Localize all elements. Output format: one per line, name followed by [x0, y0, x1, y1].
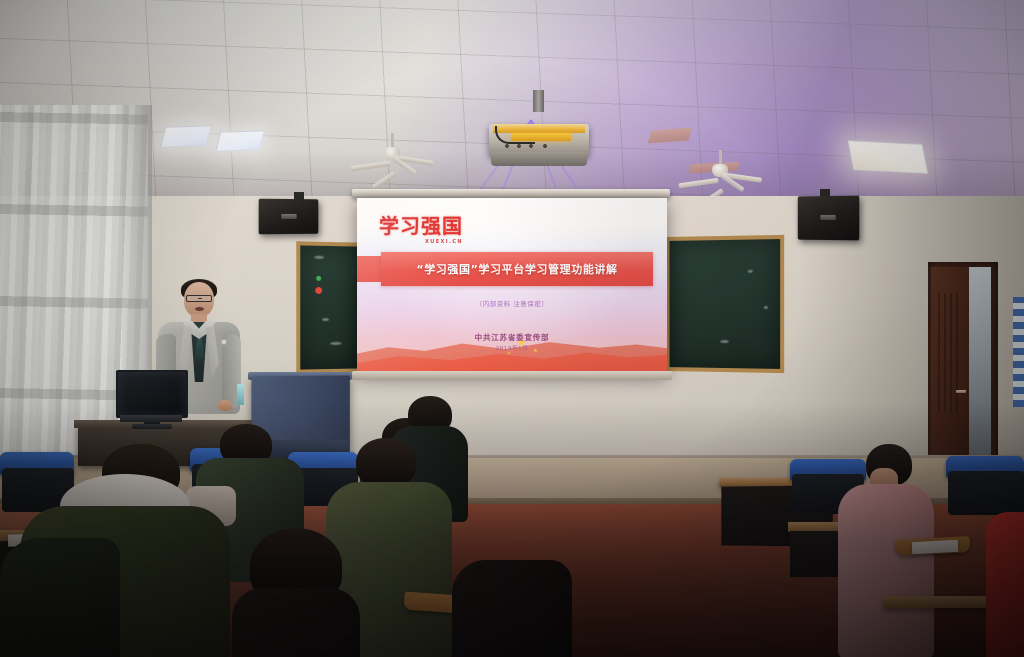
- ceiling-light-panel: [848, 140, 929, 174]
- slide-date: 2019年1月: [357, 344, 667, 352]
- logo-chinese-text: 学习强国: [379, 214, 475, 239]
- ceiling-fan-right: [678, 150, 762, 190]
- attendee-far-right: [986, 512, 1024, 657]
- slide-subtitle: （内部资料 注意保密）: [357, 298, 667, 308]
- lecture-hall-photo: 学习强国 XUEXI.CN “学习强国”学习平台学习管理功能讲解 （内部资料 注…: [0, 0, 1024, 657]
- monitor-screen: [116, 370, 188, 418]
- projection-screen: 学习强国 XUEXI.CN “学习强国”学习平台学习管理功能讲解 （内部资料 注…: [357, 198, 667, 373]
- presenter-hand: [218, 400, 232, 411]
- presenter-monitor: [116, 370, 188, 418]
- attendee-red-jacket: [986, 512, 1024, 657]
- attendee-front-right: [452, 560, 572, 657]
- fan-blade: [350, 161, 390, 172]
- attendee-front-center: [232, 528, 360, 657]
- door-opening: [969, 267, 991, 463]
- door-leaf[interactable]: [931, 267, 969, 463]
- attendee-dark-jacket: [0, 538, 120, 657]
- logo-domain-text: XUEXI.CN: [425, 239, 485, 245]
- door-panel-grooves: [938, 293, 962, 413]
- slide-title-band: “学习强国”学习平台学习管理功能讲解: [381, 252, 653, 286]
- wall-speaker-right: [798, 196, 860, 241]
- slide-title: “学习强国”学习平台学习管理功能讲解: [381, 252, 653, 286]
- ceiling-light-panel: [215, 130, 264, 152]
- presenter-mouth: [195, 307, 204, 311]
- attendee-pink-coat: [838, 484, 934, 657]
- chalk-mark: [764, 306, 768, 309]
- attendee-dark-clothing: [232, 588, 360, 657]
- screen-housing: [352, 189, 670, 198]
- projector-mount: [533, 90, 544, 112]
- paper-sheet: [912, 540, 959, 554]
- chalk-mark: [322, 318, 329, 321]
- chair-seat[interactable]: [948, 471, 1024, 515]
- screen-bottom-bar: [352, 371, 672, 380]
- ceiling-light-panel: [160, 125, 212, 148]
- xuexi-qiangguo-logo: 学习强国 XUEXI.CN: [379, 214, 475, 248]
- chalk-mark: [720, 340, 729, 343]
- attendee-front-corner: [0, 538, 120, 657]
- blackboard-right: [666, 235, 785, 373]
- board-magnet: [315, 287, 322, 294]
- water-bottle: [237, 384, 244, 405]
- ceiling-projector: [489, 106, 589, 168]
- classroom-door[interactable]: [928, 262, 998, 467]
- glasses-icon: [186, 295, 212, 302]
- attendee-dark-clothing: [452, 560, 572, 657]
- chalk-mark: [748, 270, 753, 273]
- chalk-mark: [314, 256, 324, 259]
- fan-blade: [678, 178, 718, 189]
- door-beyond-view: [1013, 297, 1024, 407]
- blackboard-left: [296, 241, 363, 373]
- chalk-mark: [330, 342, 342, 345]
- slide-organization: 中共江苏省委宣传部: [357, 332, 667, 343]
- monitor-base: [132, 424, 172, 429]
- attendee-hair: [356, 438, 416, 488]
- wall-speaker-left: [259, 199, 319, 235]
- slide-accent-block: [357, 256, 381, 282]
- presenter-badge: [222, 340, 226, 344]
- projector-cable: [495, 126, 535, 144]
- board-magnet: [316, 276, 321, 281]
- ceiling-fan-left: [350, 133, 434, 173]
- keyboard[interactable]: [120, 415, 182, 422]
- door-handle[interactable]: [956, 390, 966, 393]
- projector-lens-housing: [491, 152, 587, 166]
